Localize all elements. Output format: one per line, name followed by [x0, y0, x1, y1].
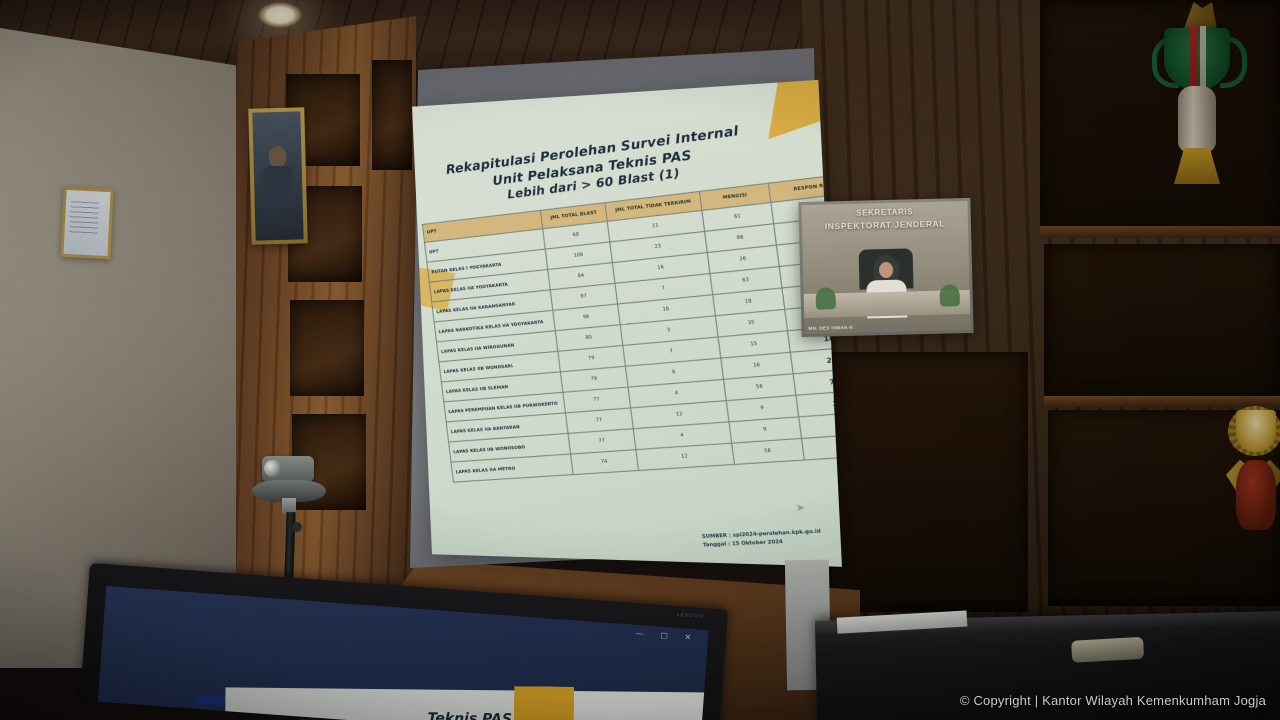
framed-certificate	[60, 187, 113, 259]
vc-participant-name: MH. DES ISMAN N	[808, 325, 852, 331]
wall-cabinet	[828, 352, 1028, 612]
trophy-cup	[1236, 410, 1276, 452]
cabinet-shelf-edge	[1040, 226, 1280, 238]
portrait-photo	[252, 111, 303, 240]
vc-banner-line2: INSPEKTORAT JENDERAL	[802, 217, 968, 233]
camera-lens-icon	[264, 460, 281, 477]
vc-room-background: SEKRETARIS INSPEKTORAT JENDERAL MH. DES …	[801, 201, 970, 334]
vc-banner-text: SEKRETARIS INSPEKTORAT JENDERAL	[802, 205, 969, 233]
framed-portrait	[248, 107, 308, 244]
trophy-body	[1236, 460, 1276, 530]
trophy-stripe	[1200, 26, 1206, 94]
laptop-slide-corner-accent	[514, 686, 575, 720]
shelf-niche	[290, 300, 364, 396]
display-cabinet	[1044, 244, 1280, 404]
slide-corner-accent	[765, 80, 828, 139]
cell-mengisi: 56	[732, 438, 805, 464]
trophy-base	[1174, 148, 1220, 184]
laptop-slide-title: Teknis PAS	[427, 711, 512, 720]
copyright-watermark: © Copyright | Kantor Wilayah Kemenkumham…	[960, 693, 1266, 708]
vc-plant	[815, 287, 836, 309]
slide-table-wrapper: UPT JML TOTAL BLAST JML TOTAL TIDAK TERK…	[422, 179, 834, 482]
meeting-room-photo: Rekapitulasi Perolehan Survei Internal U…	[0, 0, 1280, 720]
ceiling-downlight	[258, 2, 302, 28]
presentation-slide: Rekapitulasi Perolehan Survei Internal U…	[412, 80, 842, 567]
gold-trophy	[1228, 404, 1280, 604]
survey-results-table: UPT JML TOTAL BLAST JML TOTAL TIDAK TERK…	[422, 171, 842, 483]
window-controls[interactable]: — ▢ ✕	[636, 629, 699, 643]
projection-screen: Rekapitulasi Perolehan Survei Internal U…	[404, 48, 824, 568]
slide-source-note: SUMBER : spi2024-perolehan.kpk.go.id Tan…	[702, 528, 823, 550]
certificate-text-lines	[69, 201, 99, 236]
green-trophy	[1150, 0, 1246, 220]
slide-content: Rekapitulasi Perolehan Survei Internal U…	[412, 80, 842, 567]
video-conference-feed: SEKRETARIS INSPEKTORAT JENDERAL MH. DES …	[798, 198, 973, 337]
tripod-adjust-knob	[292, 522, 302, 532]
object-on-podium	[1071, 637, 1144, 663]
portrait-body	[263, 166, 294, 201]
cell-blast: 74	[571, 450, 639, 475]
vc-plant	[939, 284, 960, 306]
table-body: UPT68116175.00%RUTAN KELAS I YOGYAKARTA1…	[424, 191, 841, 482]
vc-banner-line1: SEKRETARIS	[856, 207, 913, 217]
trophy-stem	[1178, 86, 1216, 152]
